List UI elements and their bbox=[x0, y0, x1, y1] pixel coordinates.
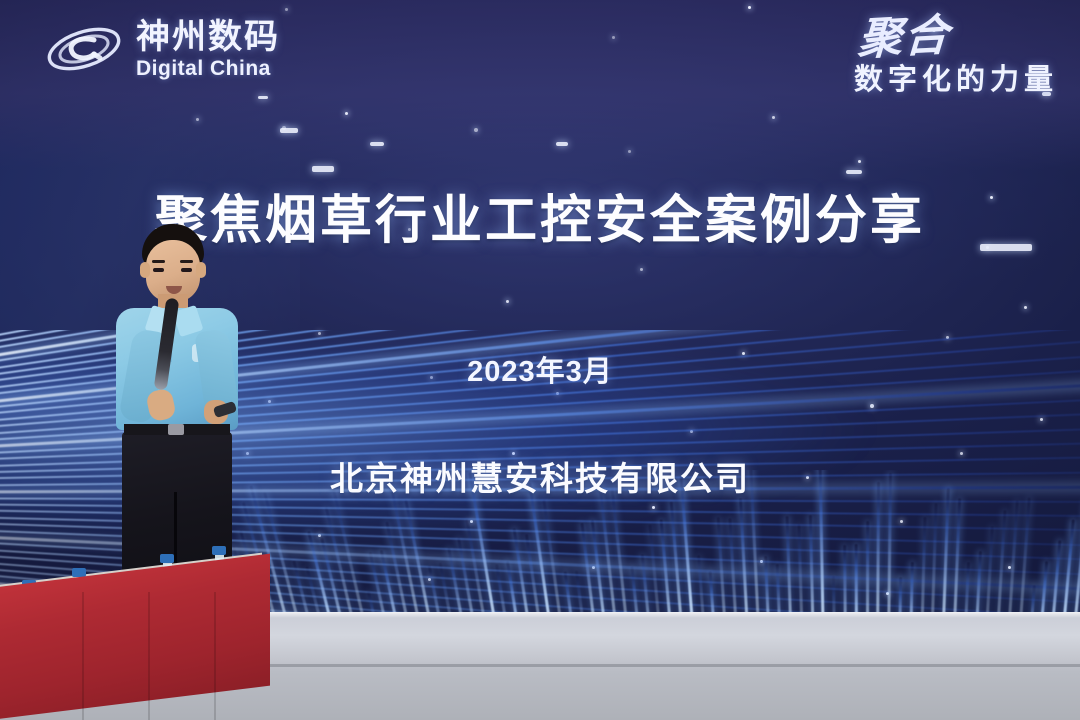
table-skirt-fold bbox=[148, 592, 150, 720]
screenshot-root: 神州数码 Digital China 聚合 数字化的力量 聚焦烟草行业工控安全案… bbox=[0, 0, 1080, 720]
presenter-ear-right bbox=[196, 262, 206, 278]
digital-china-swirl-logo-icon bbox=[42, 18, 126, 80]
presenter-eye-right bbox=[181, 268, 192, 272]
presenter-ear-left bbox=[140, 262, 150, 278]
event-slogan: 聚合 数字化的力量 bbox=[854, 16, 1058, 95]
table-skirt-fold bbox=[214, 592, 216, 720]
table-skirt-fold bbox=[82, 592, 84, 720]
digital-china-wordmark: 神州数码 Digital China bbox=[136, 20, 280, 79]
slogan-subtitle: 数字化的力量 bbox=[854, 66, 1058, 95]
digital-china-logo: 神州数码 Digital China bbox=[42, 18, 280, 80]
table-skirt-red bbox=[0, 554, 270, 720]
head-table bbox=[0, 545, 270, 720]
slogan-calligraphy: 聚合 bbox=[857, 14, 952, 63]
presenter-brow-left bbox=[152, 260, 165, 263]
bottle-cap bbox=[212, 546, 226, 555]
bottle-cap bbox=[160, 554, 174, 563]
presenter-brow-right bbox=[180, 260, 193, 263]
presenter-eye-left bbox=[153, 268, 164, 272]
presenter-belt-buckle bbox=[168, 424, 184, 435]
logo-name-cn: 神州数码 bbox=[136, 20, 280, 54]
logo-name-en: Digital China bbox=[136, 58, 280, 79]
